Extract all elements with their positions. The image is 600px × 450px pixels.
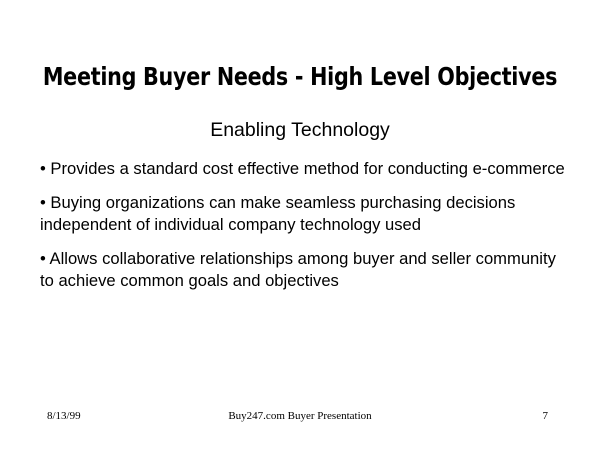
slide-subtitle: Enabling Technology [0, 118, 600, 142]
list-item: • Allows collaborative relationships amo… [40, 248, 565, 293]
presentation-slide: Meeting Buyer Needs - High Level Objecti… [0, 0, 600, 450]
slide-footer: 8/13/99 Buy247.com Buyer Presentation 7 [0, 409, 600, 427]
page-title: Meeting Buyer Needs - High Level Objecti… [24, 62, 576, 92]
list-item-text: Provides a standard cost effective metho… [50, 159, 564, 178]
list-item-text: Allows collaborative relationships among… [40, 249, 556, 291]
list-item: • Provides a standard cost effective met… [40, 158, 565, 181]
bullet-dot-icon: • [40, 249, 50, 268]
list-item-text: Buying organizations can make seamless p… [40, 193, 515, 235]
bullet-dot-icon: • [40, 193, 50, 212]
bullet-dot-icon: • [40, 159, 50, 178]
bullet-list: • Provides a standard cost effective met… [40, 158, 565, 293]
list-item: • Buying organizations can make seamless… [40, 192, 565, 237]
footer-page-number: 7 [543, 409, 549, 423]
footer-presentation-name: Buy247.com Buyer Presentation [0, 409, 600, 423]
